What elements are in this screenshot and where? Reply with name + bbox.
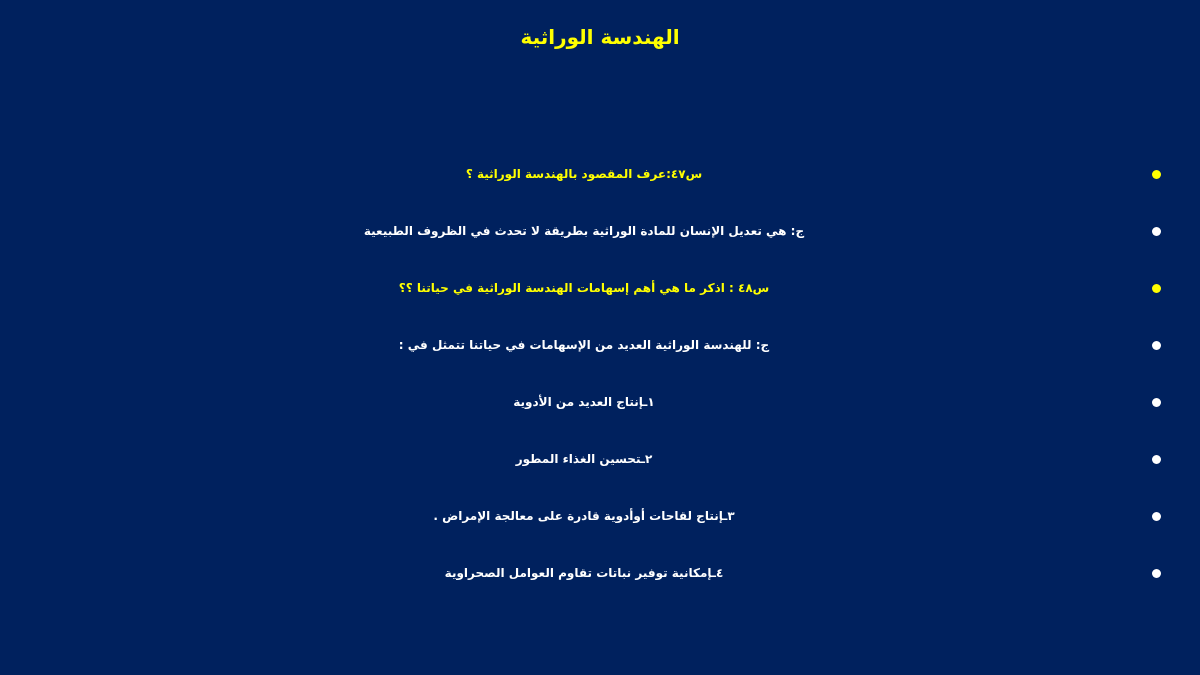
list-item-label: ج: للهندسة الوراثية العديد من الإسهامات … [28,323,1140,367]
page-title: الهندسة الوراثية [0,26,1200,49]
bullet-dot-icon [1140,209,1172,253]
bullet-dot-icon [1140,380,1172,424]
list-item: ٢ـتحسين الغذاء المطور [0,437,1200,494]
bullet-dot-icon [1140,551,1172,595]
list-item: س٤٧:عرف المقصود بالهندسة الوراثية ؟ [0,152,1200,209]
list-item: س٤٨ : اذكر ما هي أهم إسهامات الهندسة الو… [0,266,1200,323]
list-item-label: س٤٧:عرف المقصود بالهندسة الوراثية ؟ [28,152,1140,196]
bullet-dot-icon [1140,152,1172,196]
list-item: ٤ـإمكانية توفير نباتات تقاوم العوامل الص… [0,551,1200,608]
list-item-label: ٤ـإمكانية توفير نباتات تقاوم العوامل الص… [28,551,1140,595]
list-item-label: ٢ـتحسين الغذاء المطور [28,437,1140,481]
bullet-dot-icon [1140,266,1172,310]
list-item-label: ٣ـإنتاج لقاحات أوأدوية قادرة على معالجة … [28,494,1140,538]
bullet-dot-icon [1140,494,1172,538]
presentation-slide: الهندسة الوراثية س٤٧:عرف المقصود بالهندس… [0,0,1200,675]
list-item-label: ج: هي تعديل الإنسان للمادة الوراثية بطري… [28,209,1140,253]
bullet-list: س٤٧:عرف المقصود بالهندسة الوراثية ؟ ج: ه… [0,152,1200,608]
list-item: ج: للهندسة الوراثية العديد من الإسهامات … [0,323,1200,380]
list-item: ج: هي تعديل الإنسان للمادة الوراثية بطري… [0,209,1200,266]
list-item: ١ـإنتاج العديد من الأدوية [0,380,1200,437]
list-item-label: ١ـإنتاج العديد من الأدوية [28,380,1140,424]
list-item-label: س٤٨ : اذكر ما هي أهم إسهامات الهندسة الو… [28,266,1140,310]
list-item: ٣ـإنتاج لقاحات أوأدوية قادرة على معالجة … [0,494,1200,551]
bullet-dot-icon [1140,323,1172,367]
bullet-dot-icon [1140,437,1172,481]
